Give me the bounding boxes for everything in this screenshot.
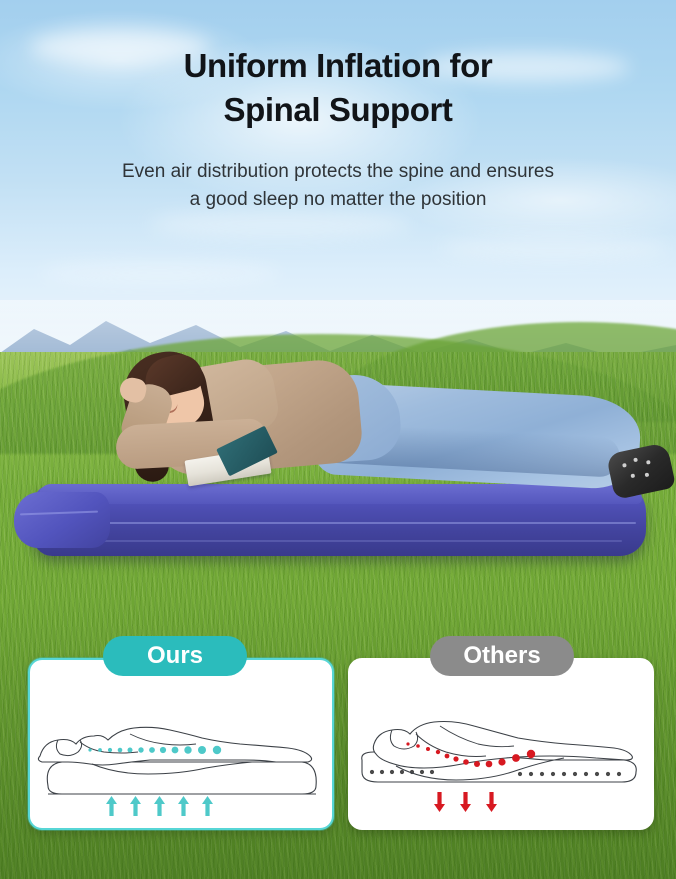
mattress-seam: [74, 540, 622, 542]
subtitle-line-1: Even air distribution protects the spine…: [122, 161, 554, 182]
arrow-up-icon: [154, 796, 165, 816]
others-sag-arrows: [350, 792, 652, 818]
subtitle-line-2: a good sleep no matter the position: [0, 186, 676, 214]
model-person: [70, 330, 630, 530]
arrow-down-icon: [486, 792, 497, 812]
comparison-card-others: [348, 658, 654, 830]
badge-ours: Ours: [103, 636, 247, 676]
page-subtitle: Even air distribution protects the spine…: [0, 158, 676, 213]
ours-support-arrows: [30, 796, 332, 822]
badge-others: Others: [430, 636, 574, 676]
diagram-others: [350, 694, 652, 826]
arrow-up-icon: [130, 796, 141, 816]
arrow-down-icon: [460, 792, 471, 812]
arrow-down-icon: [434, 792, 445, 812]
title-line-1: Uniform Inflation for: [184, 47, 493, 84]
product-feature-image: Uniform Inflation for Spinal Support Eve…: [0, 0, 676, 879]
arrow-up-icon: [178, 796, 189, 816]
arrow-up-icon: [106, 796, 117, 816]
page-title: Uniform Inflation for Spinal Support: [0, 44, 676, 131]
comparison-section: Ours: [0, 636, 676, 836]
arrow-up-icon: [202, 796, 213, 816]
comparison-card-ours: [28, 658, 334, 830]
diagram-ours: [30, 694, 332, 826]
title-line-2: Spinal Support: [0, 88, 676, 132]
